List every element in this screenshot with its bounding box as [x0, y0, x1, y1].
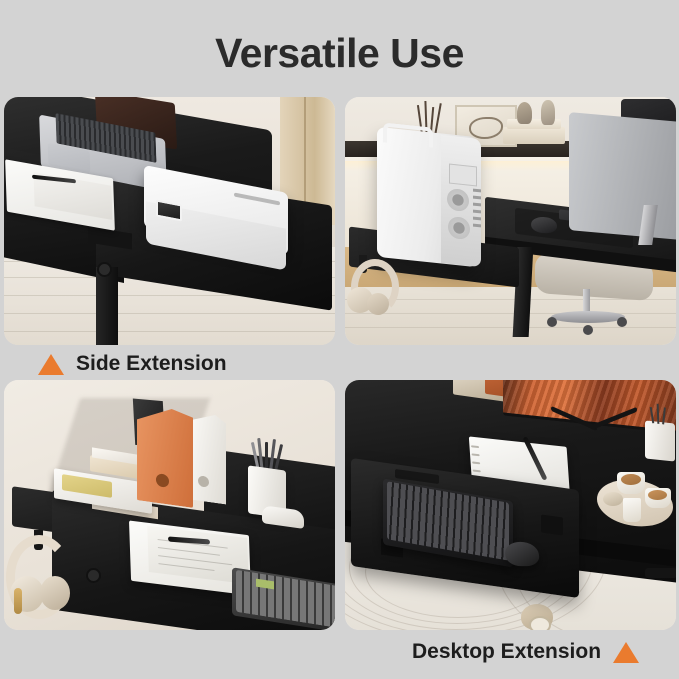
- vase-tall: [541, 100, 555, 125]
- pc-tower-panel-window: [449, 164, 477, 187]
- pen-pot: [645, 420, 675, 461]
- cable-tray: [645, 568, 676, 578]
- monitor: [569, 112, 676, 240]
- headphones-earcup: [367, 293, 389, 315]
- caption-desktop-extension: Desktop Extension: [412, 640, 639, 664]
- magazine-file-white: [190, 411, 226, 504]
- books: [503, 127, 565, 144]
- magazine-file-orange: [137, 404, 193, 508]
- pc-tower-ports: [473, 189, 481, 234]
- panel-top-right: [345, 97, 676, 345]
- mouse: [530, 217, 558, 234]
- mug: [623, 498, 641, 522]
- coffee-surface: [648, 490, 667, 500]
- chair-caster: [583, 325, 593, 335]
- caption-side-extension: Side Extension: [38, 352, 227, 376]
- adjust-knob: [86, 568, 101, 583]
- triangle-up-icon: [613, 642, 639, 663]
- panel-top-left: [4, 97, 335, 345]
- page-title: Versatile Use: [0, 30, 679, 77]
- coffee-surface: [621, 474, 641, 485]
- caption-desktop-extension-label: Desktop Extension: [412, 640, 601, 664]
- headphones-slider: [14, 588, 22, 614]
- panel-bottom-right: [345, 380, 676, 630]
- adjust-knob: [97, 262, 112, 277]
- triangle-up-icon: [38, 354, 64, 375]
- product-feature-image: Versatile Use: [0, 0, 679, 679]
- chair-caster: [547, 317, 557, 327]
- tray-mount-clip: [541, 514, 563, 535]
- snack-bowl: [603, 492, 623, 506]
- desk-caster-wheel: [529, 616, 551, 630]
- headphones-earcup: [40, 576, 70, 610]
- chair-caster: [617, 317, 627, 327]
- vase: [517, 102, 532, 124]
- desk-leg: [96, 267, 118, 345]
- panel-bottom-left: [4, 380, 335, 630]
- caption-side-extension-label: Side Extension: [76, 352, 227, 376]
- office-chair-base: [551, 311, 625, 323]
